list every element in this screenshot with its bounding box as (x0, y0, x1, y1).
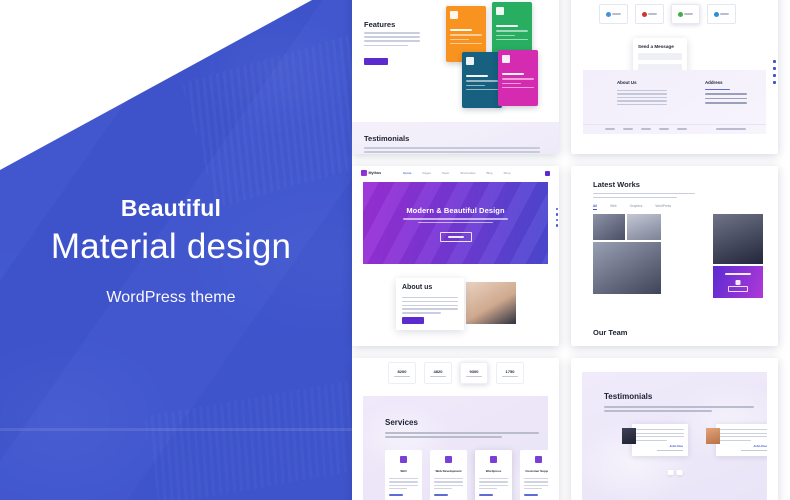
logo-mark-icon (361, 170, 367, 176)
promo-banner: Beautiful Material design WordPress them… (0, 0, 790, 500)
testimonials-heading: Testimonials (364, 134, 409, 143)
nav-item-shop[interactable]: Shop (503, 171, 510, 175)
counter-happy-clients: 8200 (388, 362, 416, 384)
nav-item-pages[interactable]: Pages (422, 171, 431, 175)
features-paragraph (364, 32, 420, 49)
about-learn-more-button[interactable] (402, 317, 424, 324)
tab-graphics[interactable]: Graphics (630, 204, 643, 210)
latest-works-paragraph (593, 193, 695, 201)
client-logos-row (599, 4, 736, 24)
testimonials-section: Testimonials John Doe Jo (582, 372, 767, 500)
client-logo (707, 4, 736, 24)
tab-web[interactable]: Web (610, 204, 617, 210)
about-panel: About us (396, 278, 464, 330)
footer-about-heading: About Us (617, 80, 637, 85)
contact-form-heading: Send a Message (638, 44, 682, 49)
testimonials-paragraph (364, 147, 540, 154)
nav-menu: Home Pages Team Shortcodes Blog Shop (403, 171, 510, 175)
section-dot-nav[interactable] (556, 208, 558, 227)
hero-banner-title: Modern & Beautiful Design (363, 206, 548, 215)
service-card-seo[interactable]: SEO (385, 450, 422, 500)
services-paragraph (385, 432, 539, 440)
portfolio-side-column (713, 214, 763, 298)
portfolio-item[interactable] (627, 214, 661, 240)
carousel-prev-icon[interactable] (354, 214, 359, 221)
footer-links[interactable] (605, 128, 687, 130)
section-dot-nav[interactable] (773, 60, 776, 84)
footer-about-text (617, 90, 667, 107)
play-icon (736, 280, 741, 285)
client-logo (635, 4, 664, 24)
feature-tile-material-design[interactable] (462, 52, 502, 108)
service-card-customer-support[interactable]: Customer Support (520, 450, 548, 500)
footer-address-heading: Address (705, 80, 723, 85)
testimonial-card: John Doe (632, 424, 688, 456)
service-read-more-link[interactable] (479, 494, 493, 496)
page-title: Material design (0, 227, 342, 266)
hero-learn-more-button[interactable] (440, 232, 472, 242)
hero-panel: Beautiful Material design WordPress them… (0, 0, 352, 500)
portfolio-grid (593, 214, 709, 298)
footer-address-text (705, 89, 747, 107)
testimonials-heading: Testimonials (604, 392, 652, 401)
feature-tile-well-documented[interactable] (498, 50, 538, 106)
avatar (706, 428, 720, 444)
layers-icon (466, 57, 474, 65)
hero-divider-band (0, 428, 352, 431)
testimonial-card: John Doe (716, 424, 767, 456)
hero-copy: Beautiful Material design WordPress them… (0, 196, 342, 307)
screenshot-card-latest-works[interactable]: Latest Works All Web Graphics WordPress (571, 166, 778, 346)
service-read-more-link[interactable] (524, 494, 538, 496)
portfolio-item[interactable] (593, 214, 625, 240)
nav-item-team[interactable]: Team (442, 171, 449, 175)
headset-icon (535, 456, 542, 463)
tab-wordpress[interactable]: WordPress (655, 204, 671, 210)
thumbs-up-icon (450, 11, 458, 19)
counter-awards-won: 1750 (496, 362, 524, 384)
chart-icon (400, 456, 407, 463)
code-icon (445, 456, 452, 463)
portfolio-promo-tile[interactable] (713, 266, 763, 298)
about-heading: About us (402, 284, 458, 291)
testimonials-section: Testimonials (352, 122, 559, 154)
service-read-more-link[interactable] (389, 494, 403, 496)
client-logo (671, 4, 700, 24)
services-section: Services SEO Web Development (363, 396, 548, 500)
hero-banner: Modern & Beautiful Design (363, 182, 548, 264)
site-navbar: Mythos Home Pages Team Shortcodes Blog S… (352, 166, 559, 180)
screenshot-card-contact-footer[interactable]: Send a Message About Us Address (571, 0, 778, 154)
name-field[interactable] (638, 53, 682, 60)
testimonial-pagination[interactable] (667, 470, 682, 475)
hero-banner-paragraph (403, 218, 508, 226)
counter-cups-of-coffee: 9300 (460, 362, 488, 384)
footer-bottom-bar (583, 124, 766, 134)
service-card-web-development[interactable]: Web Development (430, 450, 467, 500)
portfolio-filter-tabs: All Web Graphics WordPress (593, 204, 671, 210)
counters-row: 8200 4820 9300 1750 (388, 362, 524, 384)
wordpress-icon (490, 456, 497, 463)
copyright-text (716, 128, 746, 130)
cart-icon[interactable] (545, 171, 550, 176)
about-paragraph (402, 297, 458, 314)
nav-item-shortcodes[interactable]: Shortcodes (460, 171, 475, 175)
hero-kicker: Beautiful (0, 196, 342, 221)
hero-subtitle: WordPress theme (0, 289, 342, 307)
screenshot-card-testimonials[interactable]: Testimonials John Doe Jo (571, 358, 778, 500)
logo-text: Mythos (369, 171, 382, 175)
nav-item-blog[interactable]: Blog (486, 171, 492, 175)
screenshot-card-features-testimonials[interactable]: Features (352, 0, 559, 154)
service-card-wordpress[interactable]: Wordpress (475, 450, 512, 500)
nav-item-home[interactable]: Home (403, 171, 411, 175)
testimonial-author: John Doe (741, 444, 767, 448)
screenshot-card-services[interactable]: 8200 4820 9300 1750 Services (352, 358, 559, 500)
client-logo (599, 4, 628, 24)
about-image (466, 282, 516, 324)
portfolio-item[interactable] (713, 214, 763, 264)
screenshot-card-home-hero[interactable]: Mythos Home Pages Team Shortcodes Blog S… (352, 166, 559, 346)
features-heading: Features (364, 20, 395, 29)
avatar (622, 428, 636, 444)
portfolio-item[interactable] (593, 242, 661, 294)
our-team-heading: Our Team (593, 328, 627, 337)
testimonial-author: John Doe (657, 444, 683, 448)
document-icon (502, 55, 510, 63)
services-heading: Services (385, 418, 418, 427)
counter-projects-done: 4820 (424, 362, 452, 384)
testimonials-paragraph (604, 406, 754, 414)
shield-icon (496, 7, 504, 15)
features-see-more-button[interactable] (364, 58, 388, 65)
site-logo[interactable]: Mythos (361, 170, 381, 176)
latest-works-heading: Latest Works (593, 180, 640, 189)
service-cards-row: SEO Web Development Wordpress (385, 450, 548, 500)
theme-screenshot-gallery: Features (352, 0, 790, 500)
service-read-more-link[interactable] (434, 494, 448, 496)
tab-all[interactable]: All (593, 204, 597, 210)
promo-see-more-button[interactable] (728, 286, 748, 292)
